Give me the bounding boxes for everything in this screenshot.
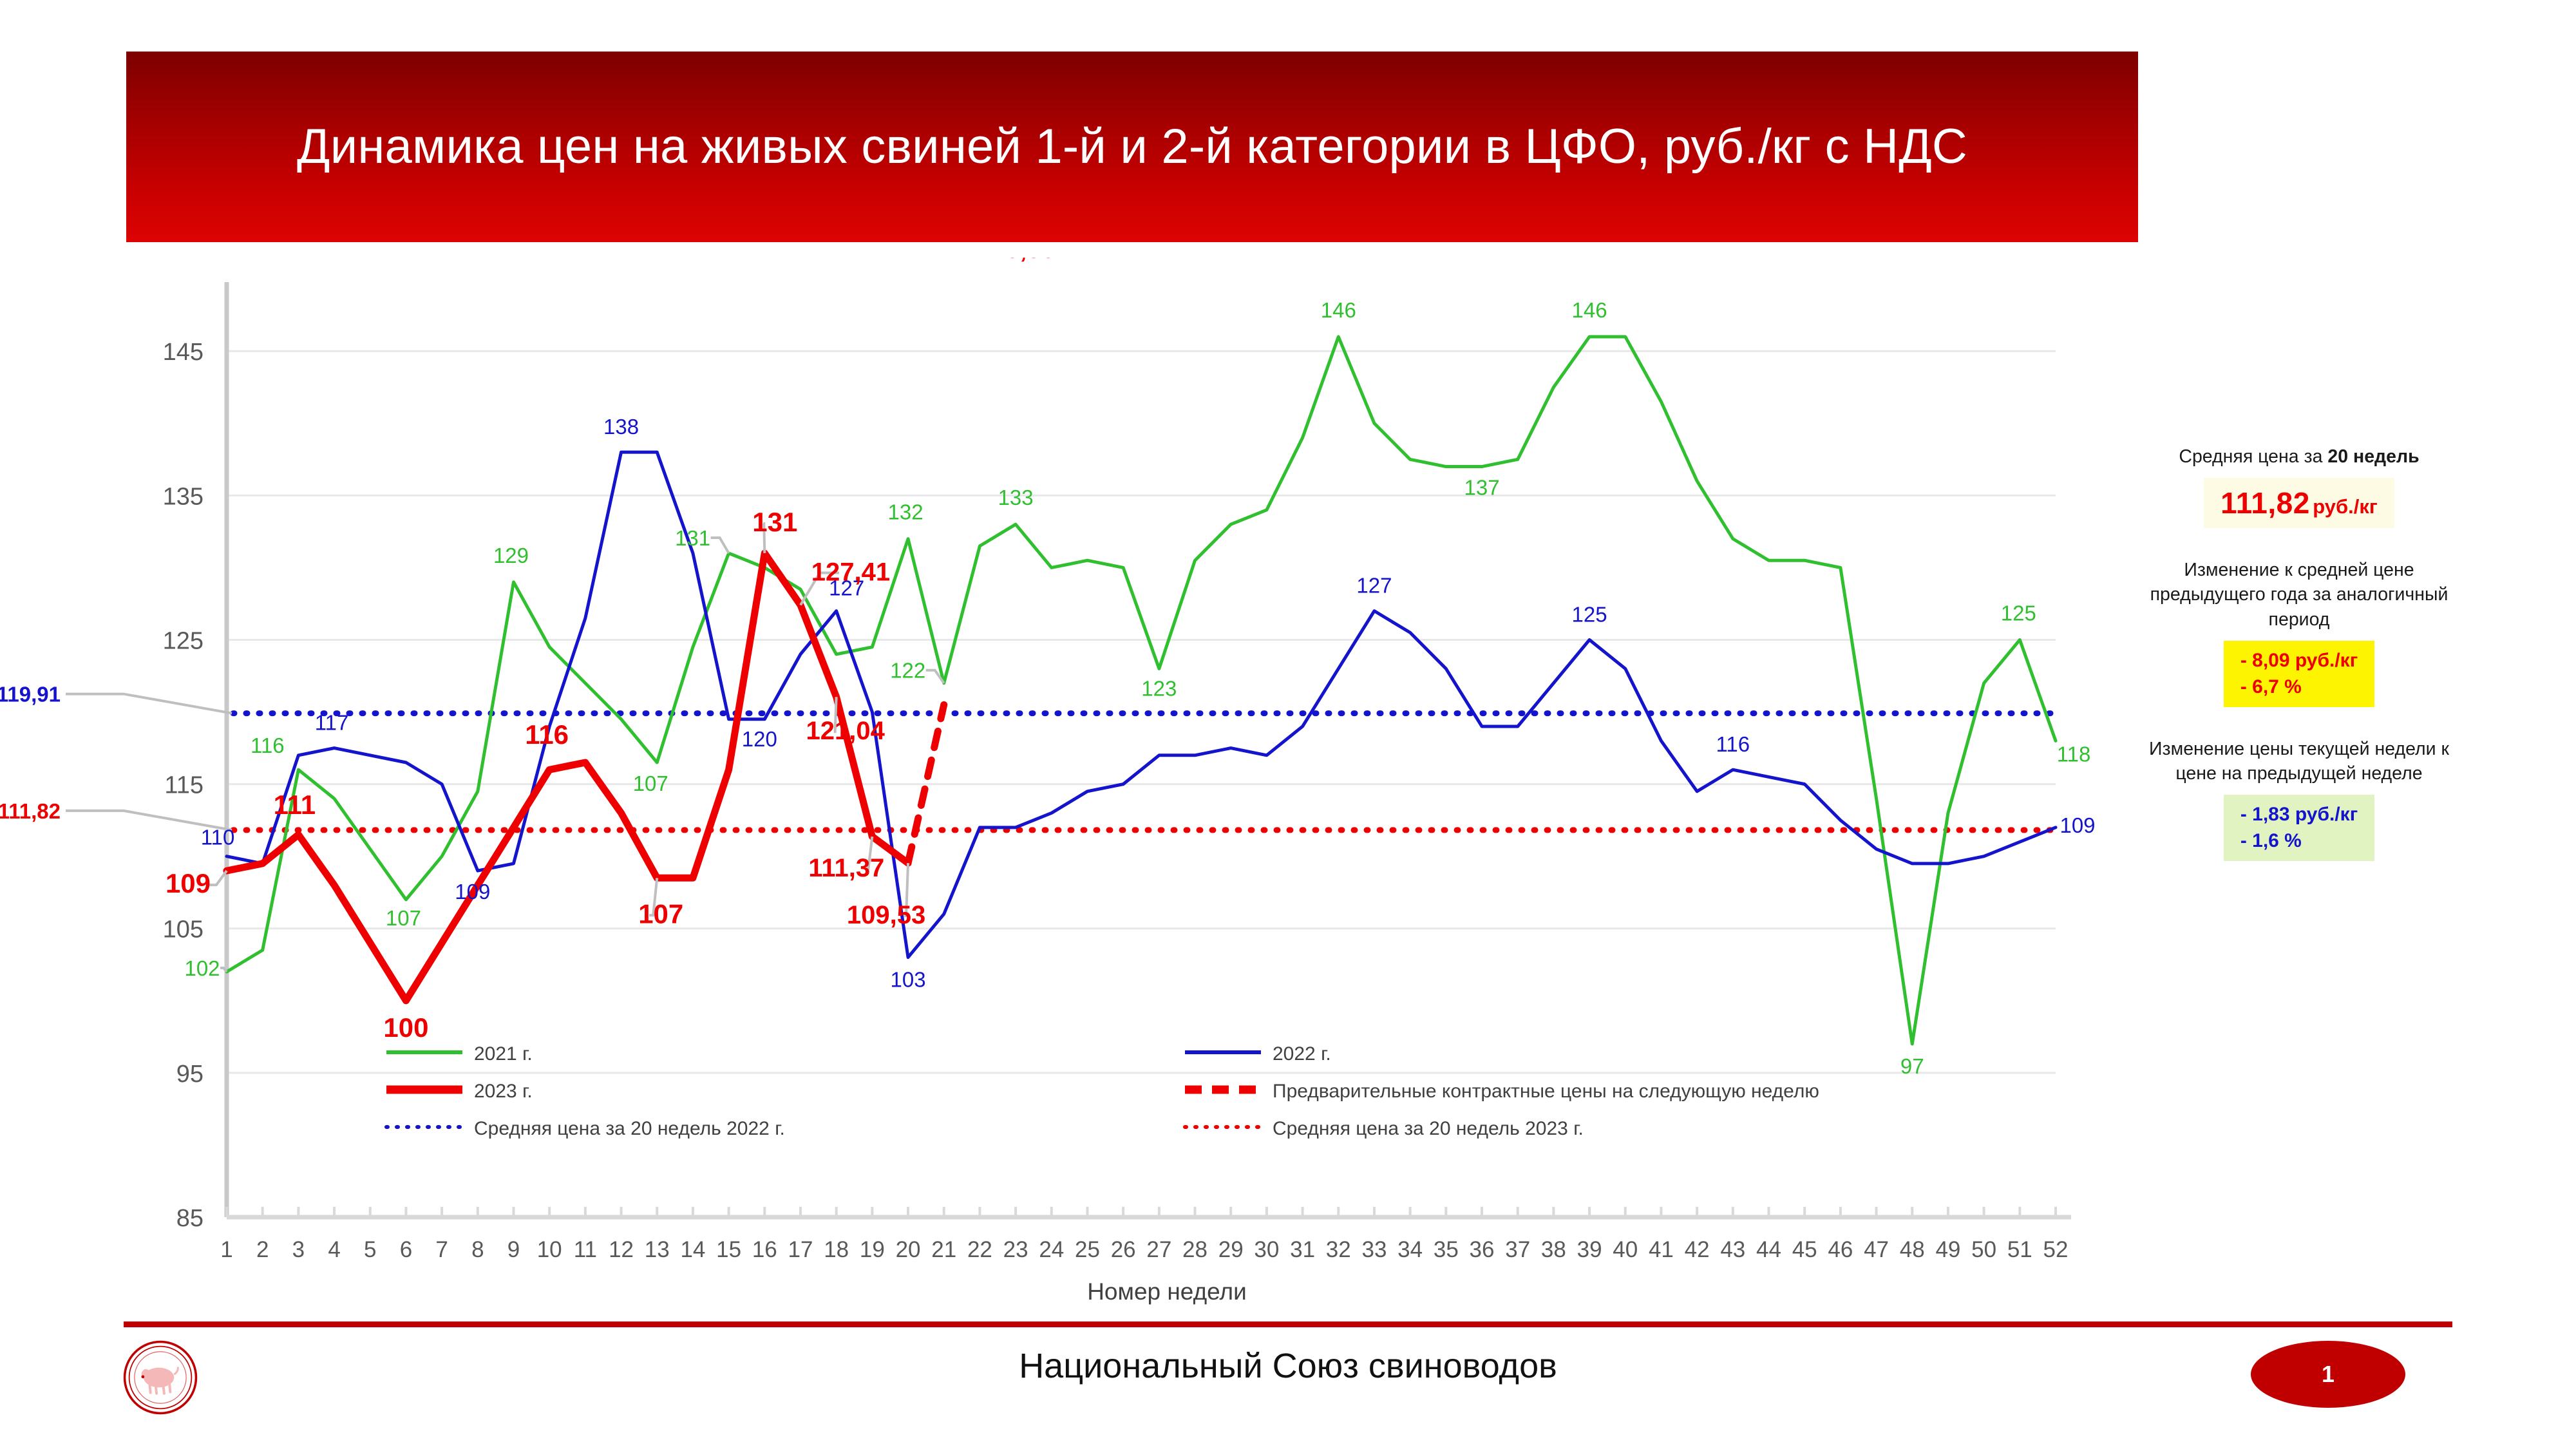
yoy-change-caption: Изменение к средней цене предыдущего год…: [2132, 558, 2467, 632]
x-axis-tick-label: 40: [1613, 1237, 1638, 1262]
x-axis-tick-label: 46: [1828, 1237, 1853, 1262]
slide-title-banner: Динамика цен на живых свиней 1-й и 2-й к…: [126, 52, 2138, 242]
data-point-label: 125: [2001, 601, 2036, 625]
x-axis-tick-label: 41: [1649, 1237, 1674, 1262]
x-axis-tick-label: 15: [716, 1237, 741, 1262]
data-point-label: 117: [315, 711, 349, 735]
average-price-caption-bold: 20 недель: [2327, 446, 2419, 467]
x-axis-tick-label: 3: [292, 1237, 305, 1262]
yoy-change-percent: - 6,7 %: [2240, 674, 2358, 700]
x-axis-tick-label: 14: [680, 1237, 705, 1262]
x-axis-tick-label: 10: [537, 1237, 562, 1262]
data-point-label: 116: [251, 734, 285, 757]
data-point-label: 138: [603, 415, 639, 439]
x-axis-tick-label: 22: [967, 1237, 992, 1262]
data-point-label: 116: [525, 719, 569, 750]
series-line: [227, 452, 2056, 957]
data-point-label: 109: [2060, 813, 2095, 837]
x-axis-tick-label: 47: [1864, 1237, 1889, 1262]
x-axis-tick-label: 35: [1434, 1237, 1459, 1262]
x-axis-tick-label: 11: [574, 1237, 597, 1262]
x-axis-tick-label: 29: [1218, 1237, 1244, 1262]
summary-info-panel: Средняя цена за 20 недель 111,82 руб./кг…: [2119, 444, 2479, 861]
x-axis-tick-label: 16: [752, 1237, 777, 1262]
x-axis-tick-label: 51: [2007, 1237, 2032, 1262]
x-axis-tick-label: 44: [1756, 1237, 1781, 1262]
y-axis-tick-label: 85: [176, 1205, 204, 1232]
data-point-label: 111: [274, 790, 316, 820]
x-axis-tick-label: 6: [400, 1237, 412, 1262]
y-axis-tick-label: 95: [176, 1061, 204, 1088]
y-axis-tick-label: 105: [163, 916, 204, 943]
data-point-label: 121,04: [806, 717, 885, 745]
x-axis-tick-label: 2: [256, 1237, 269, 1262]
data-point-label: 118: [2057, 742, 2091, 766]
data-point-label: 103: [891, 968, 926, 992]
data-point-label: 116: [1716, 732, 1750, 756]
data-point-label: 107: [638, 898, 683, 929]
legend-label: 2022 г.: [1273, 1043, 1331, 1065]
x-axis-tick-label: 52: [2043, 1237, 2069, 1262]
x-axis-tick-label: 34: [1397, 1237, 1423, 1262]
data-point-label: 111,37: [808, 854, 884, 882]
legend-label: Средняя цена за 20 недель 2022 г.: [474, 1118, 785, 1139]
x-axis-title: Номер недели: [1087, 1278, 1247, 1305]
data-point-label: 107: [633, 772, 668, 795]
x-axis-tick-label: 13: [645, 1237, 670, 1262]
wow-change-box: - 1,83 руб./кг - 1,6 %: [2224, 795, 2374, 861]
data-point-label: 102: [184, 956, 220, 980]
data-point-label: 109,53: [847, 901, 925, 929]
legend-label: Предварительные контрактные цены на след…: [1273, 1081, 1819, 1102]
x-axis-tick-label: 7: [435, 1237, 448, 1262]
data-point-label: 127,41: [811, 558, 890, 586]
data-point-label: 129: [493, 544, 529, 567]
data-point-label: 125: [1572, 602, 1607, 626]
x-axis-tick-label: 17: [788, 1237, 813, 1262]
x-axis-tick-label: 49: [1935, 1237, 1960, 1262]
data-point-label: 127: [1356, 574, 1392, 598]
data-point-label: 132: [888, 500, 923, 524]
reference-line-label: 111,82: [0, 799, 61, 823]
legend-label: 2023 г.: [474, 1081, 533, 1102]
data-point-label: 109: [455, 880, 490, 904]
chart-canvas: 8595105115125135145123456789101112131415…: [0, 258, 2125, 1320]
footer-divider: [124, 1321, 2452, 1327]
x-axis-tick-label: 24: [1039, 1237, 1064, 1262]
x-axis-tick-label: 8: [471, 1237, 484, 1262]
x-axis-tick-label: 43: [1720, 1237, 1745, 1262]
reference-line-label: 119,91: [0, 683, 61, 706]
x-axis-tick-label: 5: [364, 1237, 376, 1262]
average-price-value-box: 111,82 руб./кг: [2204, 478, 2394, 528]
average-price-unit: руб./кг: [2313, 495, 2378, 518]
x-axis-tick-label: 4: [328, 1237, 340, 1262]
x-axis-tick-label: 12: [609, 1237, 634, 1262]
data-point-label: 146: [1321, 298, 1356, 322]
y-axis-tick-label: 145: [163, 339, 204, 366]
x-axis-tick-label: 9: [507, 1237, 520, 1262]
series-line: [227, 553, 908, 1001]
average-price-caption: Средняя цена за 20 недель: [2132, 444, 2467, 469]
x-axis-tick-label: 1: [220, 1237, 232, 1262]
data-point-label: 120,50: [977, 258, 1056, 263]
page-title: Динамика цен на живых свиней 1-й и 2-й к…: [297, 117, 1967, 177]
x-axis-tick-label: 19: [860, 1237, 885, 1262]
page-number-badge: 1: [2251, 1341, 2405, 1408]
x-axis-tick-label: 18: [824, 1237, 849, 1262]
yoy-change-box: - 8,09 руб./кг - 6,7 %: [2224, 641, 2374, 707]
footer-organization: Национальный Союз свиноводов: [0, 1346, 2576, 1386]
x-axis-tick-label: 21: [931, 1237, 956, 1262]
average-price-caption-pre: Средняя цена за: [2179, 446, 2327, 467]
legend-label: Средняя цена за 20 недель 2023 г.: [1273, 1118, 1584, 1139]
data-point-label: 97: [1900, 1054, 1924, 1078]
wow-change-caption: Изменение цены текущей недели к цене на …: [2132, 737, 2467, 786]
x-axis-tick-label: 50: [1971, 1237, 1996, 1262]
data-point-label: 131: [675, 526, 710, 550]
x-axis-tick-label: 48: [1900, 1237, 1925, 1262]
data-point-label: 146: [1572, 298, 1607, 322]
x-axis-tick-label: 28: [1182, 1237, 1207, 1262]
x-axis-tick-label: 33: [1361, 1237, 1387, 1262]
data-point-label: 123: [1141, 676, 1177, 700]
price-dynamics-chart: 8595105115125135145123456789101112131415…: [0, 258, 2125, 1320]
x-axis-tick-label: 31: [1290, 1237, 1315, 1262]
x-axis-tick-label: 27: [1146, 1237, 1171, 1262]
average-price-value: 111,82: [2221, 486, 2310, 520]
wow-change-percent: - 1,6 %: [2240, 828, 2358, 854]
x-axis-tick-label: 39: [1577, 1237, 1602, 1262]
data-point-label: 110: [201, 826, 235, 849]
data-point-label: 107: [386, 906, 421, 930]
data-point-label: 131: [752, 507, 797, 537]
data-point-label: 122: [890, 659, 925, 683]
x-axis-tick-label: 23: [1003, 1237, 1028, 1262]
callout-leader: [66, 694, 232, 714]
data-point-label: 100: [383, 1012, 428, 1043]
y-axis-tick-label: 125: [163, 627, 204, 654]
x-axis-tick-label: 45: [1792, 1237, 1817, 1262]
x-axis-tick-label: 38: [1541, 1237, 1566, 1262]
y-axis-tick-label: 115: [164, 772, 204, 799]
data-point-label: 137: [1464, 476, 1499, 500]
data-point-label: 133: [998, 486, 1034, 509]
wow-change-absolute: - 1,83 руб./кг: [2240, 801, 2358, 828]
x-axis-tick-label: 30: [1254, 1237, 1279, 1262]
x-axis-tick-label: 20: [896, 1237, 921, 1262]
x-axis-tick-label: 37: [1505, 1237, 1530, 1262]
data-point-label: 120: [742, 727, 777, 751]
yoy-change-absolute: - 8,09 руб./кг: [2240, 647, 2358, 674]
x-axis-tick-label: 32: [1326, 1237, 1351, 1262]
data-point-label: 109: [166, 868, 211, 898]
x-axis-tick-label: 42: [1685, 1237, 1710, 1262]
callout-leader: [711, 538, 729, 553]
y-axis-tick-label: 135: [163, 483, 204, 510]
x-axis-tick-label: 26: [1111, 1237, 1136, 1262]
x-axis-tick-label: 25: [1075, 1237, 1100, 1262]
x-axis-tick-label: 36: [1470, 1237, 1495, 1262]
legend-label: 2021 г.: [474, 1043, 533, 1065]
